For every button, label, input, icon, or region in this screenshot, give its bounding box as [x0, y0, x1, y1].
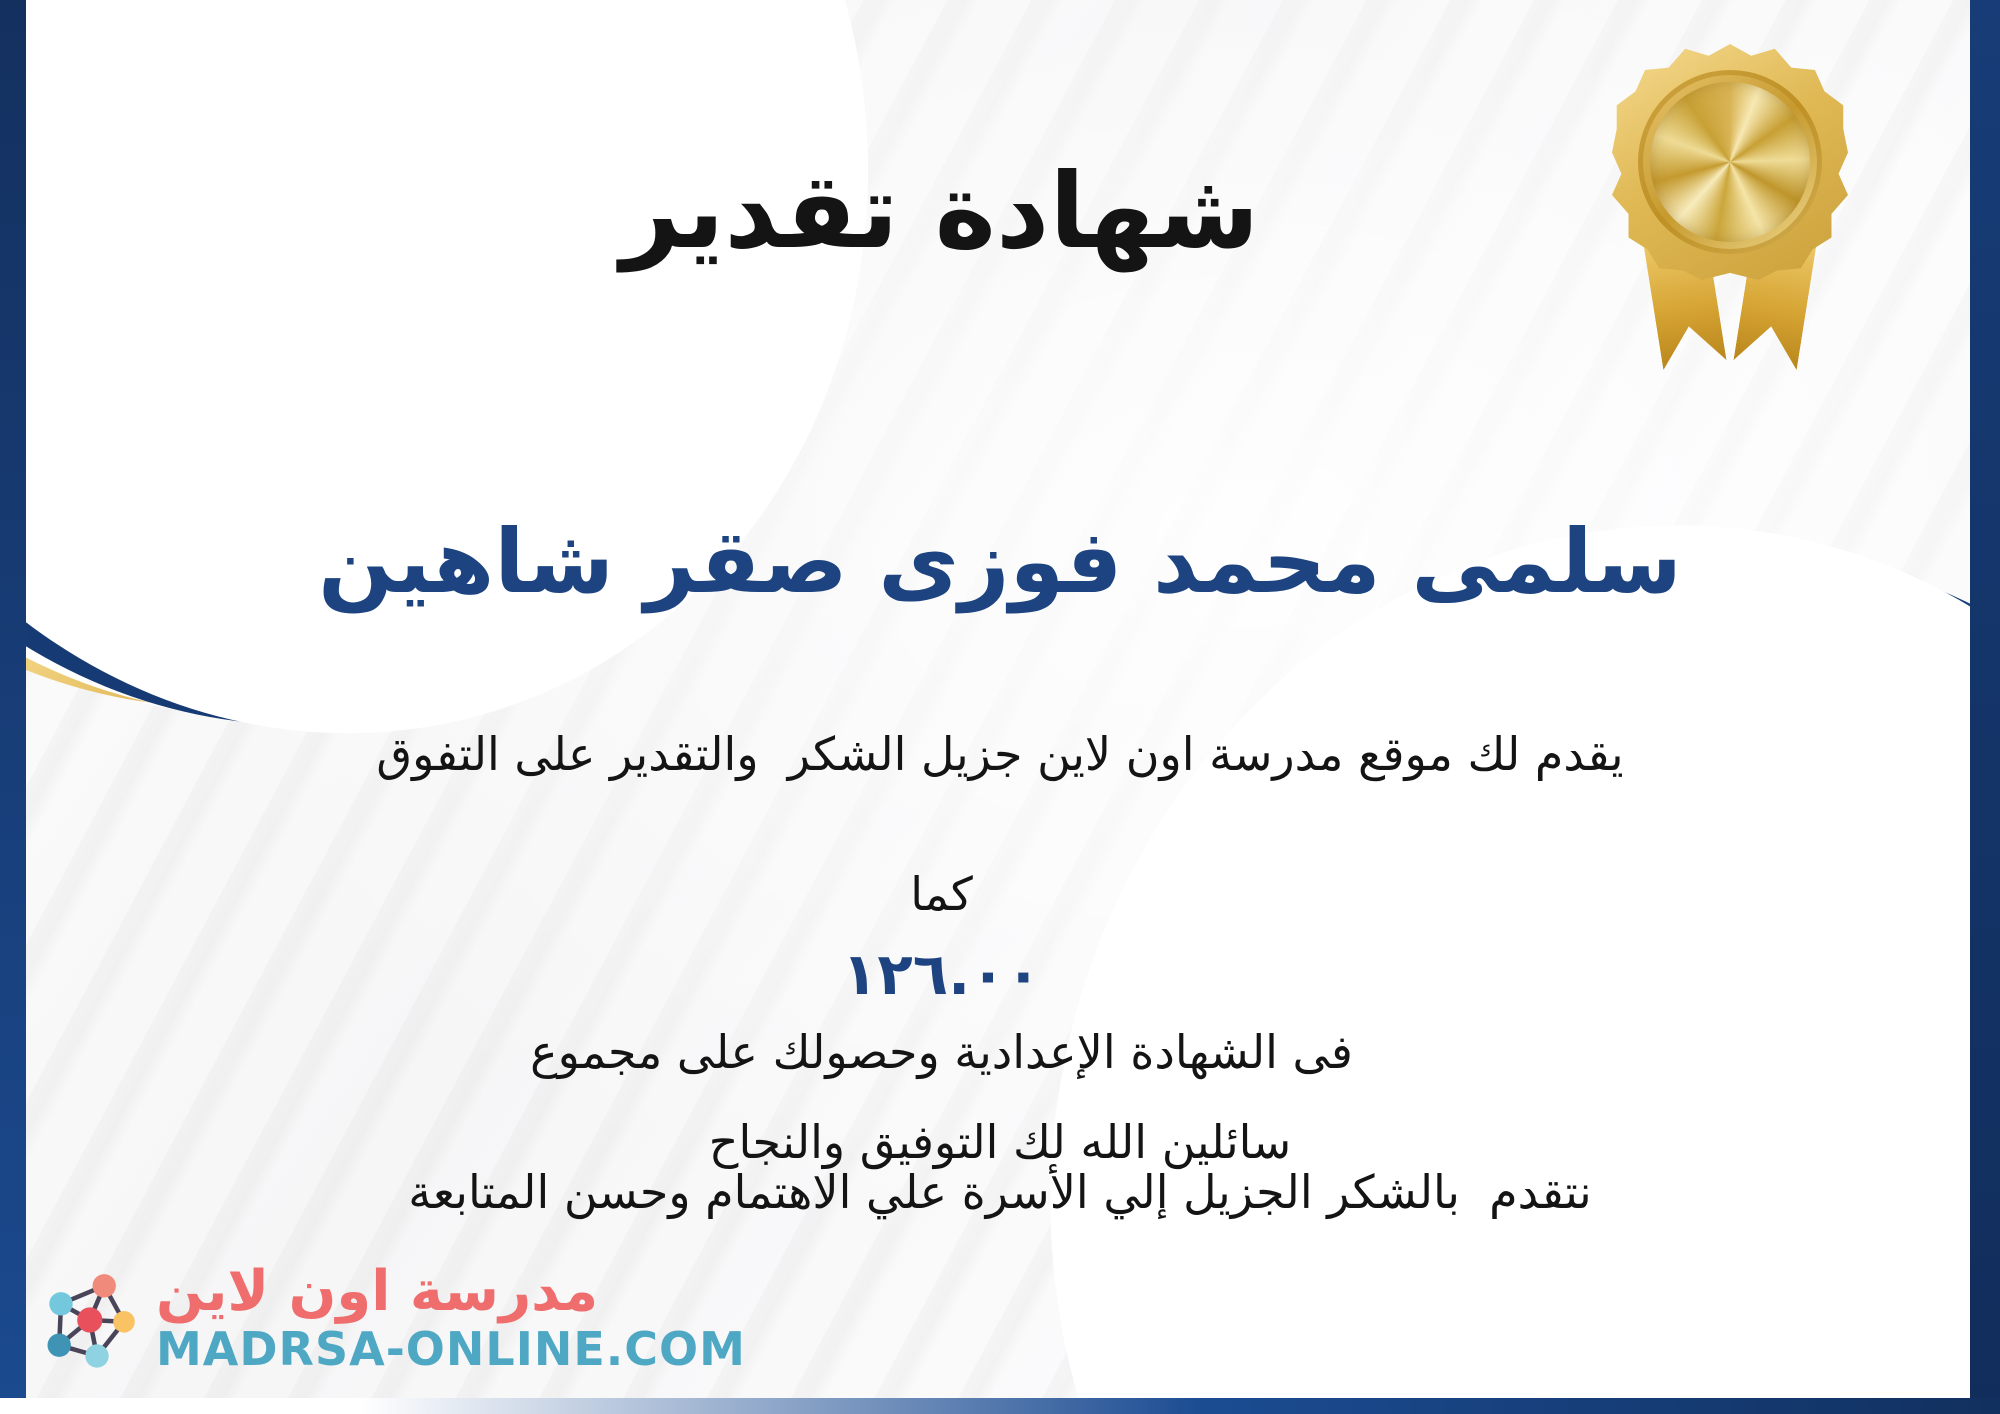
certificate-content: شهادة تقدير سلمى محمد فوزى صقر شاهين يقد…: [0, 0, 2000, 1414]
network-nodes-icon: [34, 1266, 142, 1374]
closing-wish: سائلين الله لك التوفيق والنجاح: [0, 1115, 2000, 1169]
body-line-2-suffix: فى الشهادة الإعدادية وحصولك على مجموع: [530, 1025, 1353, 1079]
page-title: شهادة تقدير: [0, 150, 2000, 272]
brand-text: مدرسة اون لاين MADRSA-ONLINE.COM: [156, 1263, 746, 1376]
body-line-2: كما ١٢٦.٠٠ فى الشهادة الإعدادية وحصولك ع…: [60, 790, 1940, 1158]
brand-arabic-name: مدرسة اون لاين: [156, 1263, 598, 1322]
brand-website: MADRSA-ONLINE.COM: [156, 1322, 746, 1376]
recipient-name: سلمى محمد فوزى صقر شاهين: [0, 510, 2000, 613]
body-line-2-prefix: كما: [910, 867, 973, 921]
brand-logo[interactable]: مدرسة اون لاين MADRSA-ONLINE.COM: [34, 1263, 746, 1376]
total-score-value: ١٢٦.٠٠: [816, 940, 1067, 1008]
body-line-1: يقدم لك موقع مدرسة اون لاين جزيل الشكر و…: [60, 720, 1940, 790]
certificate-page: شهادة تقدير سلمى محمد فوزى صقر شاهين يقد…: [0, 0, 2000, 1414]
